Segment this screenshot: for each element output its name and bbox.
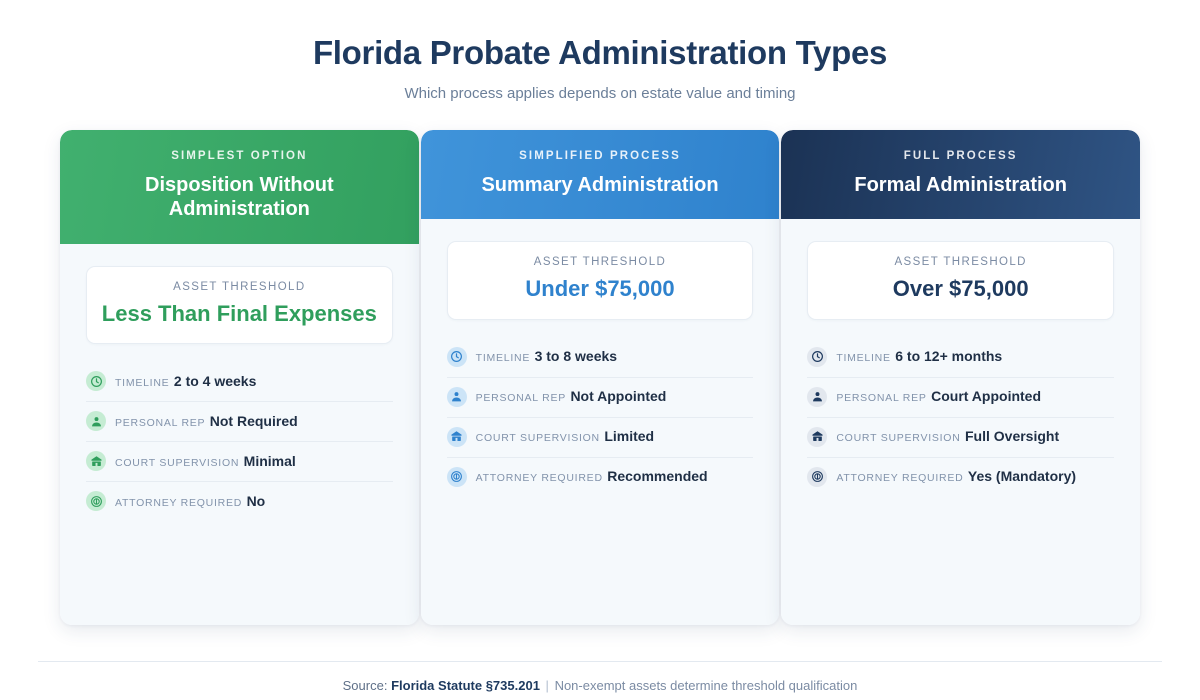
- attribute-value: Court Appointed: [931, 388, 1041, 404]
- attribute-row-personal-rep: PERSONAL REP Court Appointed: [807, 378, 1114, 418]
- footer-qualification-note: Non-exempt assets determine threshold qu…: [555, 678, 858, 693]
- card-title: Disposition Without Administration: [78, 173, 401, 222]
- attribute-label: COURT SUPERVISION: [836, 432, 960, 444]
- attribute-row-timeline: TIMELINE 6 to 12+ months: [807, 338, 1114, 378]
- card-body: ASSET THRESHOLD Under $75,000 TIMELINE 3…: [421, 219, 780, 625]
- footer-note: Source: Florida Statute §735.201 | Non-e…: [0, 678, 1200, 693]
- attribute-value: 3 to 8 weeks: [535, 348, 618, 364]
- attribute-value: Not Required: [210, 413, 298, 429]
- page-title: Florida Probate Administration Types: [0, 34, 1200, 72]
- attribute-row-personal-rep: PERSONAL REP Not Appointed: [447, 378, 754, 418]
- clock-icon: [86, 371, 106, 391]
- card-header: SIMPLIFIED PROCESS Summary Administratio…: [421, 130, 780, 219]
- attribute-row-attorney-required: ATTORNEY REQUIRED Yes (Mandatory): [807, 458, 1114, 497]
- card-summary-administration[interactable]: SIMPLIFIED PROCESS Summary Administratio…: [421, 130, 780, 625]
- attribute-label: COURT SUPERVISION: [476, 432, 600, 444]
- card-body: ASSET THRESHOLD Over $75,000 TIMELINE 6 …: [781, 219, 1140, 625]
- attribute-row-timeline: TIMELINE 3 to 8 weeks: [447, 338, 754, 378]
- attribute-value: Minimal: [244, 453, 296, 469]
- attribute-value: Limited: [604, 428, 654, 444]
- attribute-value: No: [247, 493, 266, 509]
- footer-separator: |: [544, 678, 551, 693]
- attribute-row-personal-rep: PERSONAL REP Not Required: [86, 402, 393, 442]
- attribute-label: TIMELINE: [836, 352, 890, 364]
- attribute-label: ATTORNEY REQUIRED: [476, 472, 603, 484]
- dollar-coin-icon: [86, 491, 106, 511]
- clock-icon: [807, 347, 827, 367]
- attribute-list: TIMELINE 3 to 8 weeks PERSONAL REP N: [447, 338, 754, 497]
- clock-icon: [447, 347, 467, 367]
- card-title: Formal Administration: [799, 173, 1122, 197]
- asset-threshold-label: ASSET THRESHOLD: [820, 256, 1101, 268]
- attribute-row-attorney-required: ATTORNEY REQUIRED Recommended: [447, 458, 754, 497]
- attribute-label: PERSONAL REP: [836, 392, 926, 404]
- asset-threshold-value: Less Than Final Expenses: [99, 301, 380, 327]
- attribute-label: PERSONAL REP: [476, 392, 566, 404]
- asset-threshold-label: ASSET THRESHOLD: [99, 281, 380, 293]
- attribute-value: Recommended: [607, 468, 707, 484]
- attribute-label: ATTORNEY REQUIRED: [836, 472, 963, 484]
- attribute-row-attorney-required: ATTORNEY REQUIRED No: [86, 482, 393, 521]
- person-icon: [447, 387, 467, 407]
- asset-threshold-box: ASSET THRESHOLD Under $75,000: [447, 241, 754, 319]
- attribute-row-court-supervision: COURT SUPERVISION Limited: [447, 418, 754, 458]
- asset-threshold-label: ASSET THRESHOLD: [460, 256, 741, 268]
- courthouse-icon: [807, 427, 827, 447]
- attribute-row-court-supervision: COURT SUPERVISION Full Oversight: [807, 418, 1114, 458]
- attribute-label: PERSONAL REP: [115, 417, 205, 429]
- card-eyebrow: FULL PROCESS: [799, 150, 1122, 162]
- footer-source-label: Source:: [343, 678, 388, 693]
- card-body: ASSET THRESHOLD Less Than Final Expenses…: [60, 244, 419, 625]
- card-title: Summary Administration: [439, 173, 762, 197]
- probate-comparison-page: Florida Probate Administration Types Whi…: [0, 0, 1200, 700]
- card-formal-administration[interactable]: FULL PROCESS Formal Administration ASSET…: [781, 130, 1140, 625]
- attribute-label: COURT SUPERVISION: [115, 457, 239, 469]
- card-eyebrow: SIMPLEST OPTION: [78, 150, 401, 162]
- card-disposition-without-administration[interactable]: SIMPLEST OPTION Disposition Without Admi…: [60, 130, 419, 625]
- person-icon: [807, 387, 827, 407]
- page-subtitle: Which process applies depends on estate …: [0, 85, 1200, 102]
- asset-threshold-value: Under $75,000: [460, 276, 741, 302]
- attribute-row-court-supervision: COURT SUPERVISION Minimal: [86, 442, 393, 482]
- attribute-value: Not Appointed: [570, 388, 666, 404]
- attribute-value: Yes (Mandatory): [968, 468, 1076, 484]
- dollar-coin-icon: [807, 467, 827, 487]
- attribute-list: TIMELINE 2 to 4 weeks PERSONAL REP N: [86, 362, 393, 521]
- footer-divider: [38, 661, 1162, 662]
- person-icon: [86, 411, 106, 431]
- comparison-cards: SIMPLEST OPTION Disposition Without Admi…: [60, 130, 1140, 625]
- card-header: SIMPLEST OPTION Disposition Without Admi…: [60, 130, 419, 244]
- attribute-list: TIMELINE 6 to 12+ months PERSONAL REP: [807, 338, 1114, 497]
- dollar-coin-icon: [447, 467, 467, 487]
- page-header: Florida Probate Administration Types Whi…: [0, 0, 1200, 102]
- card-eyebrow: SIMPLIFIED PROCESS: [439, 150, 762, 162]
- attribute-value: 6 to 12+ months: [895, 348, 1002, 364]
- card-header: FULL PROCESS Formal Administration: [781, 130, 1140, 219]
- asset-threshold-box: ASSET THRESHOLD Less Than Final Expenses: [86, 266, 393, 344]
- courthouse-icon: [86, 451, 106, 471]
- asset-threshold-value: Over $75,000: [820, 276, 1101, 302]
- asset-threshold-box: ASSET THRESHOLD Over $75,000: [807, 241, 1114, 319]
- attribute-label: TIMELINE: [115, 377, 169, 389]
- attribute-value: 2 to 4 weeks: [174, 373, 257, 389]
- attribute-row-timeline: TIMELINE 2 to 4 weeks: [86, 362, 393, 402]
- courthouse-icon: [447, 427, 467, 447]
- attribute-label: TIMELINE: [476, 352, 530, 364]
- attribute-label: ATTORNEY REQUIRED: [115, 497, 242, 509]
- footer-statute: Florida Statute §735.201: [391, 678, 540, 693]
- attribute-value: Full Oversight: [965, 428, 1059, 444]
